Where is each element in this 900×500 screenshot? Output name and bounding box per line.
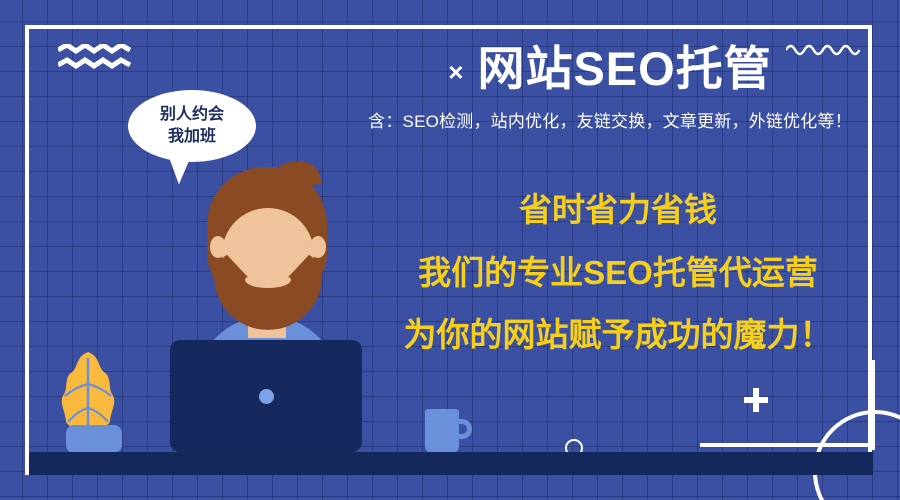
person-mouth bbox=[245, 272, 291, 288]
speech-bubble: 别人约会 我加班 bbox=[128, 90, 256, 162]
crosshair-horizontal-line bbox=[700, 443, 875, 447]
coffee-mug-icon bbox=[425, 409, 459, 453]
desk-surface bbox=[29, 452, 873, 475]
corner-decoration bbox=[700, 360, 900, 500]
plant-pot bbox=[66, 425, 122, 453]
speech-bubble-line-1: 别人约会 bbox=[160, 104, 224, 126]
poster-canvas: × 网站SEO托管 含：SEO检测，站内优化，友链交换，文章更新，外链优化等！ … bbox=[0, 0, 900, 500]
speech-bubble-line-2: 我加班 bbox=[168, 126, 216, 148]
crosshair-vertical-line bbox=[871, 360, 875, 450]
plus-mark-icon bbox=[744, 388, 768, 412]
page-title: 网站SEO托管 bbox=[477, 44, 771, 93]
laptop-logo-dot bbox=[259, 389, 274, 404]
